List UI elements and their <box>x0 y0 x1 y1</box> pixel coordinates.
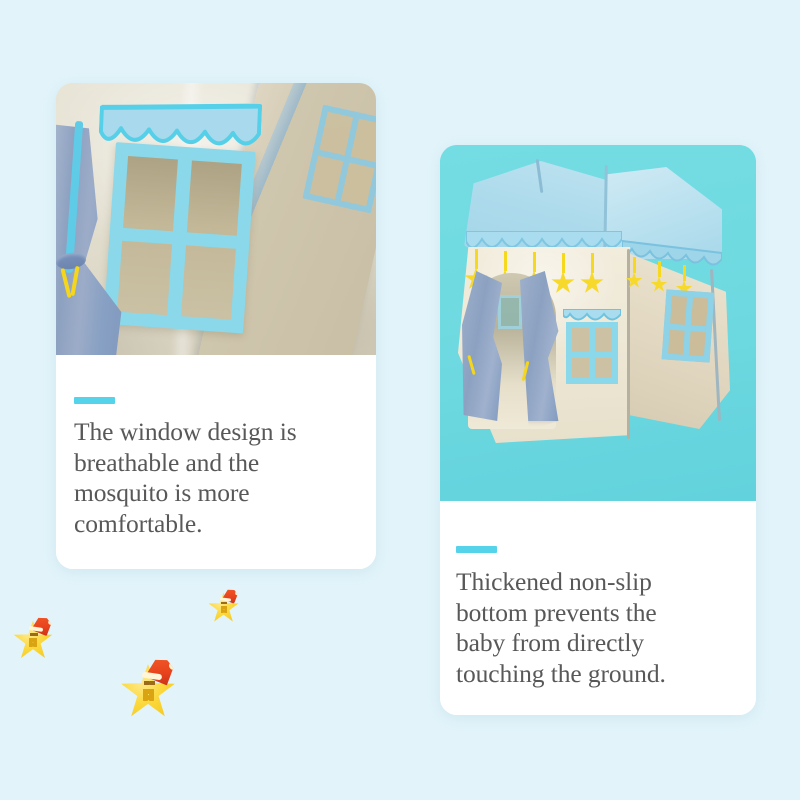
arched-doorway <box>464 273 560 431</box>
window-frame <box>566 322 618 384</box>
night-cap-star-tiny-right <box>208 592 239 623</box>
accent-dash <box>456 546 497 553</box>
night-cap-star-large-center <box>120 663 176 719</box>
caption-text-window: The window design is breathable and the … <box>74 417 364 539</box>
tent-window-closeup-photo <box>56 83 376 355</box>
door-curtain-left <box>462 271 502 421</box>
play-tent <box>446 161 746 471</box>
curtain-left <box>56 121 130 355</box>
star-string <box>504 251 507 271</box>
star-string <box>591 253 594 273</box>
night-cap-star-small-left <box>13 620 53 660</box>
yellow-tie-string <box>62 264 88 300</box>
full-tent-photo <box>440 145 756 501</box>
tent-corner-seam <box>627 249 630 439</box>
star-string <box>633 257 636 273</box>
star-face-buttons <box>29 638 37 647</box>
star-string <box>533 252 536 272</box>
feature-card-bottom[interactable]: Thickened non-slip bottom prevents the b… <box>440 145 756 715</box>
star-face-eyes <box>144 681 155 685</box>
window-mullion-horizontal <box>572 352 612 358</box>
caption-block-bottom: Thickened non-slip bottom prevents the b… <box>440 501 756 715</box>
star-string <box>475 249 478 269</box>
front-window <box>566 309 618 385</box>
star-face-buttons <box>143 689 154 701</box>
star-string <box>658 261 661 277</box>
star-face-buttons <box>221 606 227 613</box>
window-mullion-horizontal <box>670 324 706 332</box>
caption-block-window: The window design is breathable and the … <box>56 355 376 569</box>
star-string <box>562 253 565 273</box>
star-face-eyes <box>30 633 38 636</box>
accent-dash <box>74 397 115 404</box>
page-canvas: The window design is breathable and the … <box>0 0 800 800</box>
interior-window <box>498 295 522 329</box>
star-face-eyes <box>221 602 227 604</box>
feature-card-window[interactable]: The window design is breathable and the … <box>56 83 376 569</box>
side-window <box>662 289 715 362</box>
caption-text-bottom: Thickened non-slip bottom prevents the b… <box>456 567 746 689</box>
star-string <box>683 265 686 281</box>
